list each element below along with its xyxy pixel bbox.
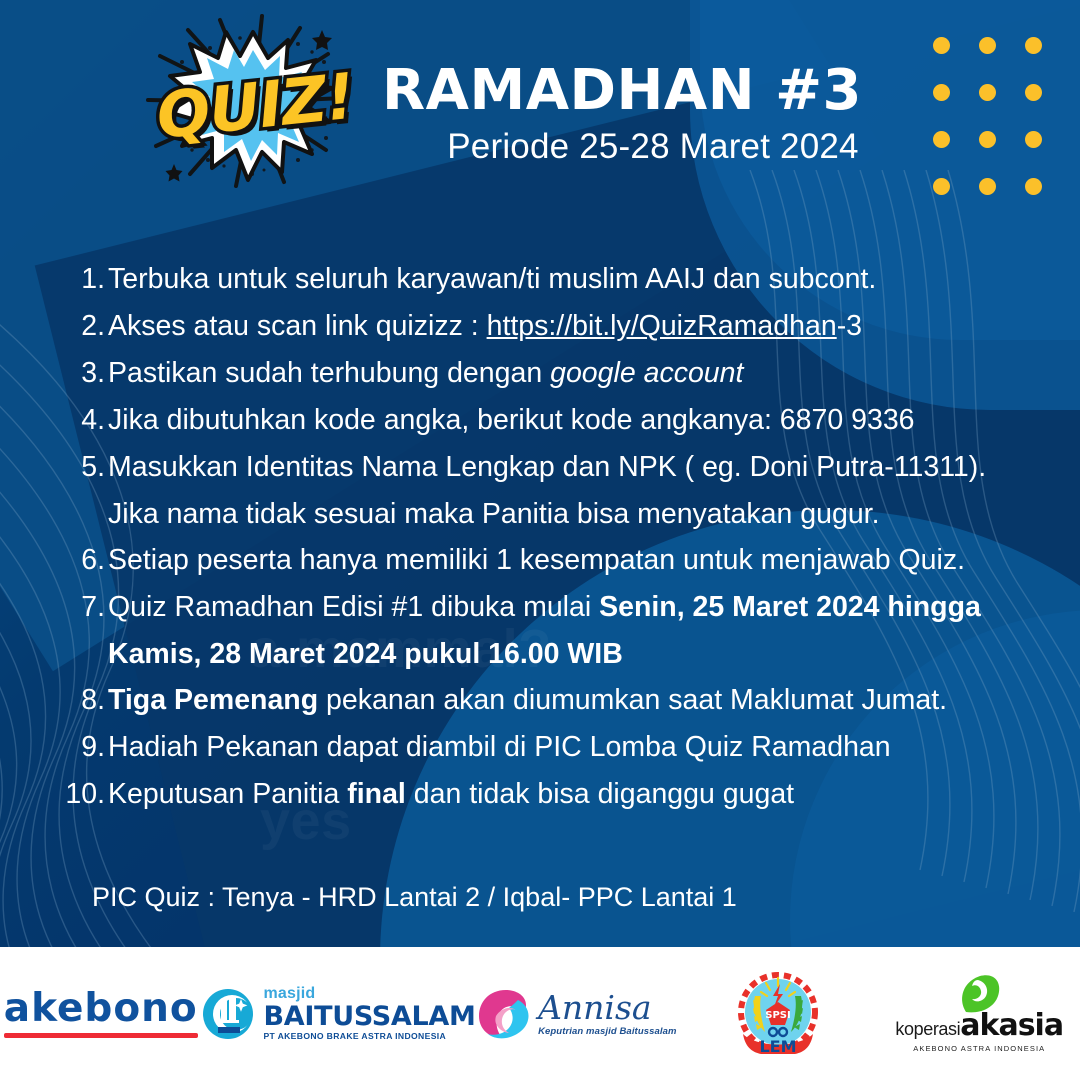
quiz-badge-word-wrap: QUIZ! [112, 14, 394, 190]
masjid-label-baitussalam: BAITUSSALAM [263, 1003, 475, 1030]
poster-root: a mammal? yes [0, 0, 1080, 1080]
rule-number: 8. [62, 677, 108, 723]
rule-text-part: Kamis, 28 Maret 2024 pukul 16.00 WIB [108, 638, 623, 670]
rule-text-part: Senin, 25 Maret 2024 hingga [599, 591, 981, 623]
rule-text: Akses atau scan link quizizz : https://b… [108, 303, 1022, 349]
annisa-logo: Annisa Keputrian masjid Baitussalam [476, 986, 676, 1042]
rule-text-part: Setiap peserta hanya memiliki 1 kesempat… [108, 544, 965, 576]
header: QUIZ! RAMADHAN #3 Periode 25-28 Maret 20… [0, 0, 1080, 215]
pic-contact-line: PIC Quiz : Tenya - HRD Lantai 2 / Iqbal-… [92, 882, 737, 913]
rule-number: 9. [62, 724, 108, 770]
annisa-tagline: Keputrian masjid Baitussalam [538, 1027, 676, 1037]
masjid-baitussalam-logo: masjid BAITUSSALAM PT AKEBONO BRAKE ASTR… [201, 986, 475, 1041]
rule-text: Jika dibutuhkan kode angka, berikut kode… [108, 397, 1022, 443]
akebono-red-rule [4, 1033, 198, 1038]
rule-text-part: Hadiah Pekanan dapat diambil di PIC Lomb… [108, 731, 891, 763]
rule-text-part: Quiz Ramadhan Edisi #1 dibuka mulai [108, 591, 599, 623]
rule-text: Setiap peserta hanya memiliki 1 kesempat… [108, 537, 1022, 583]
rule-text-part: pekanan akan diumumkan saat Maklumat Jum… [318, 684, 947, 716]
rule-continuation-text: Kamis, 28 Maret 2024 pukul 16.00 WIB [108, 631, 1022, 677]
spsi-lem-emblem-icon: SPSI LEM [735, 968, 821, 1060]
rule-text: Hadiah Pekanan dapat diambil di PIC Lomb… [108, 724, 1022, 770]
rule-text-part: Terbuka untuk seluruh karyawan/ti muslim… [108, 263, 876, 295]
logo-spsi-lem: SPSI LEM [677, 947, 878, 1080]
rule-text-part: -3 [837, 310, 862, 342]
akebono-logo: akebono [4, 989, 198, 1038]
rule-text-part: Pastikan sudah terhubung dengan [108, 357, 550, 389]
rule-text-part: final [347, 778, 406, 810]
rule-item: 1.Terbuka untuk seluruh karyawan/ti musl… [62, 256, 1022, 302]
rules-list: 1.Terbuka untuk seluruh karyawan/ti musl… [62, 256, 1022, 818]
rule-number: 1. [62, 256, 108, 302]
akasia-tagline: AKEBONO ASTRA INDONESIA [895, 1044, 1063, 1053]
logo-akebono: akebono [0, 947, 201, 1080]
akebono-wordmark: akebono [4, 989, 198, 1028]
quiz-badge-text: QUIZ! [153, 59, 357, 152]
rule-text-part: Masukkan Identitas Nama Lengkap dan NPK … [108, 451, 986, 483]
rule-item: 10.Keputusan Panitia final dan tidak bis… [62, 771, 1022, 817]
rule-number: 10. [62, 771, 108, 817]
quiz-burst-badge: QUIZ! [112, 14, 394, 190]
quiz-link[interactable]: https://bit.ly/QuizRamadhan [487, 310, 837, 342]
rule-number: 7. [62, 584, 108, 630]
rule-text: Quiz Ramadhan Edisi #1 dibuka mulai Seni… [108, 584, 1022, 630]
rule-number: 2. [62, 303, 108, 349]
rule-item: 9.Hadiah Pekanan dapat diambil di PIC Lo… [62, 724, 1022, 770]
rule-text-part: Keputusan Panitia [108, 778, 347, 810]
title-block: RAMADHAN #3 Periode 25-28 Maret 2024 [382, 62, 942, 167]
annisa-text-block: Annisa Keputrian masjid Baitussalam [538, 991, 676, 1037]
rule-number: 5. [62, 444, 108, 490]
rule-number: 4. [62, 397, 108, 443]
page-title: RAMADHAN #3 [382, 62, 942, 119]
rule-number: 6. [62, 537, 108, 583]
rule-text-part: dan tidak bisa diganggu gugat [406, 778, 794, 810]
svg-text:LEM: LEM [759, 1037, 796, 1056]
rule-text: Keputusan Panitia final dan tidak bisa d… [108, 771, 1022, 817]
rule-item-continuation: 7.Kamis, 28 Maret 2024 pukul 16.00 WIB [62, 631, 1022, 677]
rule-text: Masukkan Identitas Nama Lengkap dan NPK … [108, 444, 1022, 490]
logo-masjid-baitussalam: masjid BAITUSSALAM PT AKEBONO BRAKE ASTR… [201, 947, 475, 1080]
rule-item: 6.Setiap peserta hanya memiliki 1 kesemp… [62, 537, 1022, 583]
rule-text: Terbuka untuk seluruh karyawan/ti muslim… [108, 256, 1022, 302]
rule-text-part: Jika nama tidak sesuai maka Panitia bisa… [108, 498, 880, 530]
rule-continuation-text: Jika nama tidak sesuai maka Panitia bisa… [108, 491, 1022, 537]
rule-text-part: Akses atau scan link quizizz : [108, 310, 487, 342]
akasia-label-koperasi: koperasi [895, 1019, 960, 1040]
akasia-label-akasia: akasia [960, 1008, 1063, 1043]
hijab-swirl-icon [476, 986, 534, 1042]
logo-annisa: Annisa Keputrian masjid Baitussalam [476, 947, 677, 1080]
rule-text-part: Tiga Pemenang [108, 684, 318, 716]
page-subtitle: Periode 25-28 Maret 2024 [382, 127, 942, 167]
rule-item: 7.Quiz Ramadhan Edisi #1 dibuka mulai Se… [62, 584, 1022, 630]
rule-text-part: Jika dibutuhkan kode angka, berikut kode… [108, 404, 915, 436]
masjid-text-block: masjid BAITUSSALAM PT AKEBONO BRAKE ASTR… [263, 986, 475, 1041]
rule-text: Tiga Pemenang pekanan akan diumumkan saa… [108, 677, 1022, 723]
svg-text:SPSI: SPSI [765, 1010, 790, 1021]
sponsor-logo-bar: akebono masjid BAITUSSALAM [0, 947, 1080, 1080]
rule-item: 3.Pastikan sudah terhubung dengan google… [62, 350, 1022, 396]
masjid-label-masjid: masjid [263, 986, 475, 1002]
rule-item-continuation: 5.Jika nama tidak sesuai maka Panitia bi… [62, 491, 1022, 537]
akasia-wordmark-row: koperasi akasia [895, 1008, 1063, 1043]
rule-item: 4.Jika dibutuhkan kode angka, berikut ko… [62, 397, 1022, 443]
rule-number: 3. [62, 350, 108, 396]
rule-item: 8.Tiga Pemenang pekanan akan diumumkan s… [62, 677, 1022, 723]
logo-koperasi-akasia: koperasi akasia AKEBONO ASTRA INDONESIA [879, 947, 1080, 1080]
masjid-label-company: PT AKEBONO BRAKE ASTRA INDONESIA [263, 1032, 475, 1041]
mosque-crescent-icon [201, 987, 255, 1041]
rule-item: 5.Masukkan Identitas Nama Lengkap dan NP… [62, 444, 1022, 490]
rule-text-part: google account [550, 357, 743, 389]
annisa-wordmark: Annisa [538, 991, 676, 1024]
rule-item: 2.Akses atau scan link quizizz : https:/… [62, 303, 1022, 349]
koperasi-akasia-logo: koperasi akasia AKEBONO ASTRA INDONESIA [895, 974, 1063, 1053]
rule-text: Pastikan sudah terhubung dengan google a… [108, 350, 1022, 396]
